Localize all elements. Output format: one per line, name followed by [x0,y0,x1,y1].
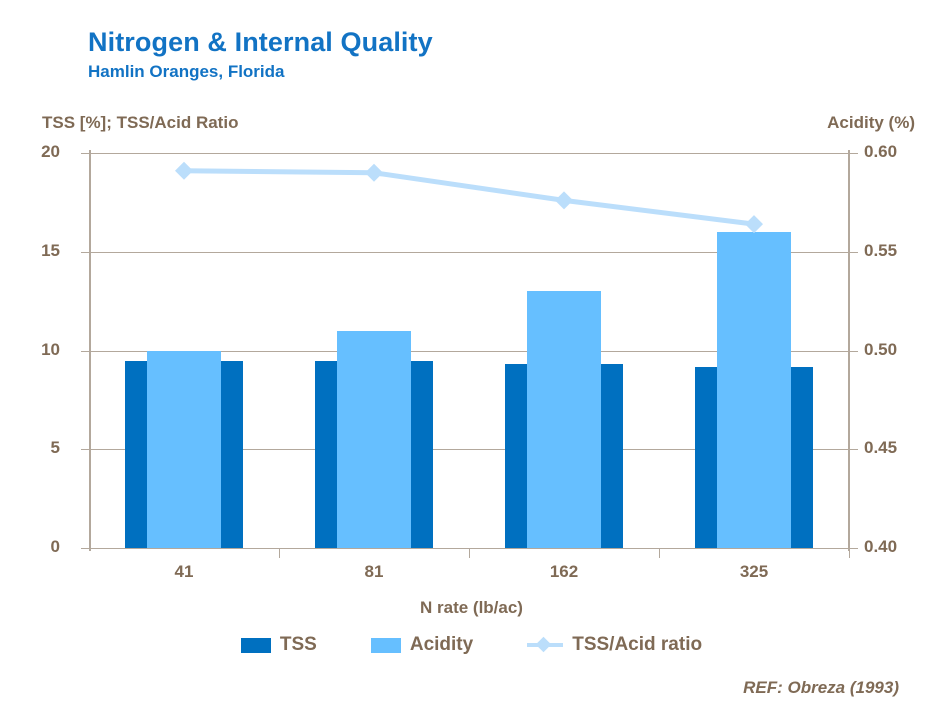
left-axis-title: TSS [%]; TSS/Acid Ratio [42,113,238,133]
right-tick-label: 0.45 [864,438,897,458]
x-tick-label: 325 [704,562,804,582]
x-tick-label: 162 [514,562,614,582]
gridline [89,153,849,154]
left-tick-label: 20 [41,142,60,162]
legend-item-tss-acid-ratio[interactable]: TSS/Acid ratio [527,634,702,656]
ratio-marker-diamond[interactable] [175,162,193,180]
plot-area [89,153,849,548]
legend-label: Acidity [410,634,473,656]
chart-title: Nitrogen & Internal Quality [88,27,433,58]
bar-acidity[interactable] [147,351,221,549]
right-tick [849,548,858,549]
x-tick [659,549,660,558]
right-tick [849,351,858,352]
right-axis-title: Acidity (%) [827,113,915,133]
ratio-marker-diamond[interactable] [745,215,763,233]
right-tick-label: 0.40 [864,537,897,557]
ratio-line [184,171,754,224]
right-tick-label: 0.55 [864,241,897,261]
x-tick [849,549,850,558]
legend-label: TSS/Acid ratio [572,634,702,656]
left-tick-label: 10 [41,340,60,360]
legend-item-tss[interactable]: TSS [241,634,317,656]
ratio-marker-diamond[interactable] [365,164,383,182]
right-tick-label: 0.60 [864,142,897,162]
ratio-marker-diamond[interactable] [555,191,573,209]
right-tick [849,153,858,154]
legend-swatch-icon [241,638,271,653]
bar-acidity[interactable] [527,291,601,548]
chart-legend: TSSAcidityTSS/Acid ratio [0,634,943,656]
left-tick-label: 15 [41,241,60,261]
right-tick [849,252,858,253]
legend-swatch-icon [371,638,401,653]
legend-label: TSS [280,634,317,656]
legend-line-diamond-icon [527,638,563,652]
legend-item-acidity[interactable]: Acidity [371,634,473,656]
chart-root: Nitrogen & Internal Quality Hamlin Orang… [0,0,943,709]
right-tick [849,449,858,450]
x-tick-label: 81 [324,562,424,582]
left-tick-label: 0 [51,537,60,557]
right-tick-label: 0.50 [864,340,897,360]
bar-acidity[interactable] [337,331,411,548]
x-tick-label: 41 [134,562,234,582]
chart-subtitle: Hamlin Oranges, Florida [88,62,285,82]
reference-footnote: REF: Obreza (1993) [743,678,899,698]
x-tick [279,549,280,558]
x-axis-title: N rate (lb/ac) [0,598,943,618]
x-tick [469,549,470,558]
gridline [89,548,849,549]
bar-acidity[interactable] [717,232,791,548]
left-tick-label: 5 [51,438,60,458]
